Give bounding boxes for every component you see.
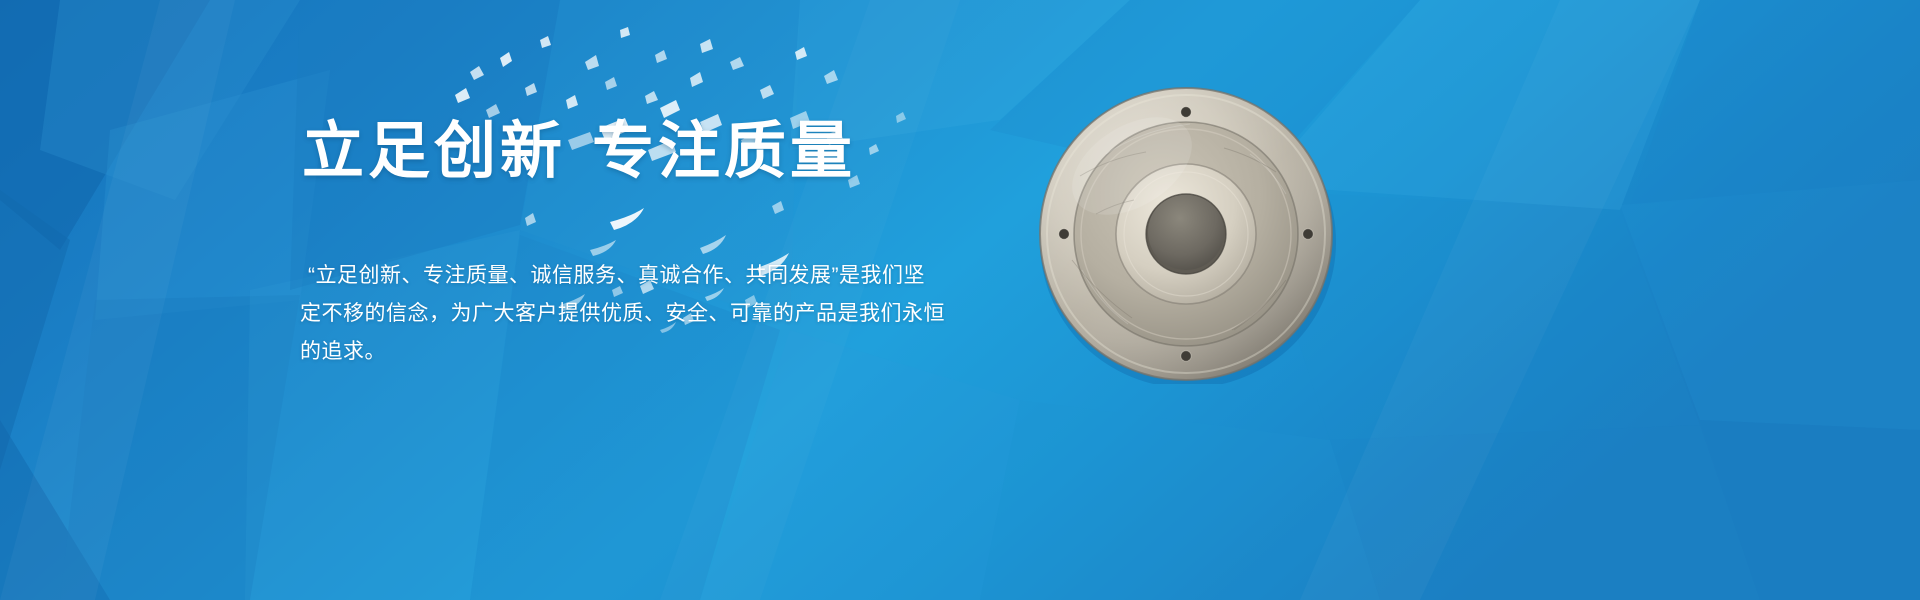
metal-flange-image — [1036, 84, 1342, 384]
paragraph-line-3: 的追求。 — [300, 333, 940, 371]
banner-content: 立足创新专注质量 “立足创新、专注质量、诚信服务、真诚合作、共同发展”是我们坚 … — [0, 0, 1000, 600]
headline-part-1: 立足创新 — [302, 117, 566, 186]
banner-paragraph: “立足创新、专注质量、诚信服务、真诚合作、共同发展”是我们坚 定不移的信念，为广… — [300, 257, 940, 371]
hero-banner: 立足创新专注质量 “立足创新、专注质量、诚信服务、真诚合作、共同发展”是我们坚 … — [0, 0, 1920, 600]
headline-part-2: 专注质量 — [592, 117, 856, 186]
paragraph-line-1: “立足创新、专注质量、诚信服务、真诚合作、共同发展”是我们坚 — [300, 257, 940, 295]
banner-headline: 立足创新专注质量 — [302, 119, 856, 185]
paragraph-line-2: 定不移的信念，为广大客户提供优质、安全、可靠的产品是我们永恒 — [300, 295, 940, 333]
